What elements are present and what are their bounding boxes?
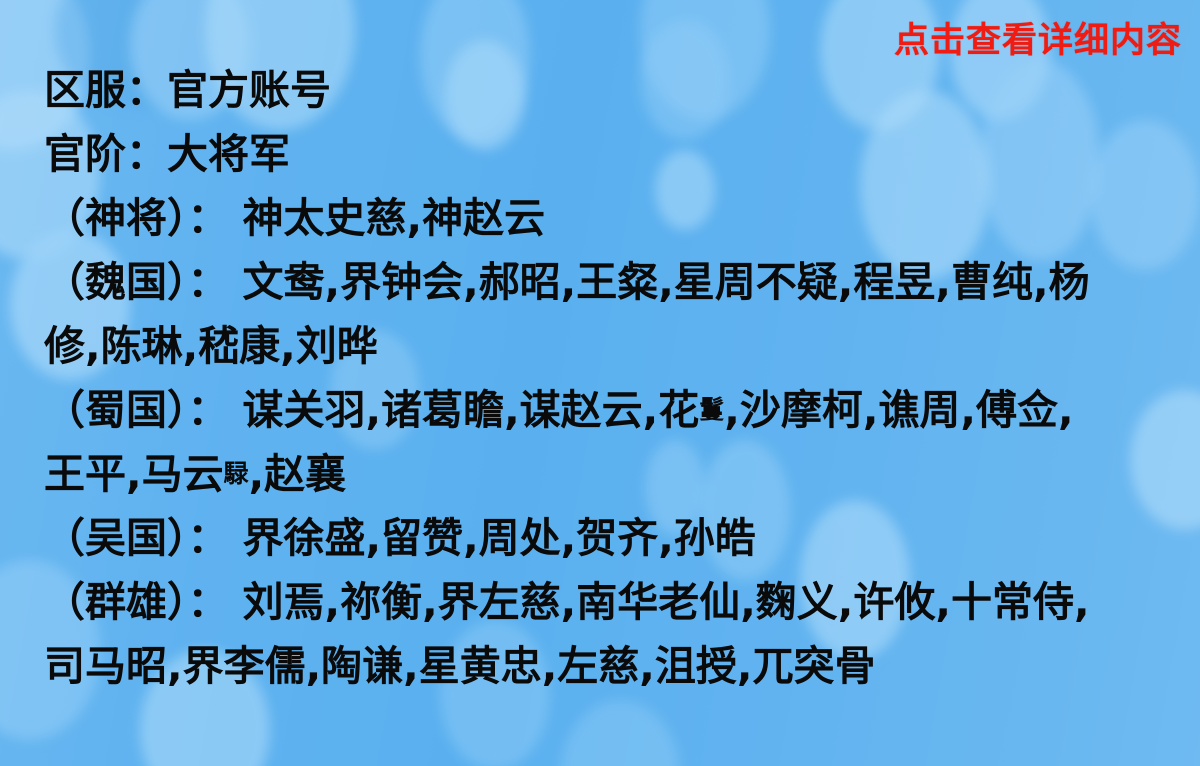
- group-line-shuguo: （蜀国）：谋关羽,诸葛瞻,谋赵云,花鬘,沙摩柯,谯周,傅佥,: [44, 378, 1184, 442]
- group-values-shenjiang: 神太史慈,神赵云: [243, 194, 546, 242]
- server-line: 区服：官方账号: [44, 58, 1184, 122]
- account-details-list: 区服：官方账号 官阶：大将军 （神将）：神太史慈,神赵云 （魏国）：文鸯,界钟会…: [44, 58, 1184, 698]
- group-label-shenjiang: （神将）：: [44, 194, 229, 242]
- server-value: 官方账号: [167, 66, 331, 114]
- group-line-weiguo: （魏国）：文鸯,界钟会,郝昭,王粲,星周不疑,程昱,曹纯,杨: [44, 250, 1184, 314]
- click-for-details-headline[interactable]: 点击查看详细内容: [894, 24, 1182, 59]
- screenshot-root: 点击查看详细内容 区服：官方账号 官阶：大将军 （神将）：神太史慈,神赵云 （魏…: [0, 0, 1200, 766]
- group-values-qunxiong-2: 司马昭,界李儒,陶谦,星黄忠,左慈,沮授,兀突骨: [44, 642, 875, 690]
- group-values-shuguo-1a: 谋关羽,诸葛瞻,谋赵云,花: [243, 386, 700, 434]
- group-values-weiguo-2: 修,陈琳,嵇康,刘晔: [44, 322, 378, 370]
- group-line-shuguo-cont: 王平,马云騄,赵襄: [44, 442, 1184, 506]
- group-values-shuguo-rare-glyph-2: 騄: [224, 459, 249, 488]
- group-values-shuguo-rare-glyph-1: 鬘: [699, 395, 724, 424]
- group-label-qunxiong: （群雄）：: [44, 578, 229, 626]
- rank-line: 官阶：大将军: [44, 122, 1184, 186]
- group-values-shuguo-2c: ,赵襄: [249, 450, 347, 498]
- rank-label: 官阶：: [44, 130, 167, 178]
- group-label-weiguo: （魏国）：: [44, 258, 229, 306]
- group-line-weiguo-cont: 修,陈琳,嵇康,刘晔: [44, 314, 1184, 378]
- group-values-qunxiong-1: 刘焉,祢衡,界左慈,南华老仙,麴义,许攸,十常侍,: [243, 578, 1090, 626]
- group-label-shuguo: （蜀国）：: [44, 386, 229, 434]
- group-line-qunxiong: （群雄）：刘焉,祢衡,界左慈,南华老仙,麴义,许攸,十常侍,: [44, 570, 1184, 634]
- server-label: 区服：: [44, 66, 167, 114]
- rank-value: 大将军: [167, 130, 290, 178]
- group-line-qunxiong-cont: 司马昭,界李儒,陶谦,星黄忠,左慈,沮授,兀突骨: [44, 634, 1184, 698]
- group-values-weiguo-1: 文鸯,界钟会,郝昭,王粲,星周不疑,程昱,曹纯,杨: [243, 258, 1090, 306]
- group-line-wuguo: （吴国）：界徐盛,留赞,周处,贺齐,孙皓: [44, 506, 1184, 570]
- group-values-wuguo: 界徐盛,留赞,周处,贺齐,孙皓: [243, 514, 756, 562]
- banner-content: 点击查看详细内容 区服：官方账号 官阶：大将军 （神将）：神太史慈,神赵云 （魏…: [0, 0, 1200, 766]
- group-values-shuguo-2a: 王平,马云: [44, 450, 224, 498]
- group-line-shenjiang: （神将）：神太史慈,神赵云: [44, 186, 1184, 250]
- group-values-shuguo-1c: ,沙摩柯,谯周,傅佥,: [724, 386, 1073, 434]
- group-label-wuguo: （吴国）：: [44, 514, 229, 562]
